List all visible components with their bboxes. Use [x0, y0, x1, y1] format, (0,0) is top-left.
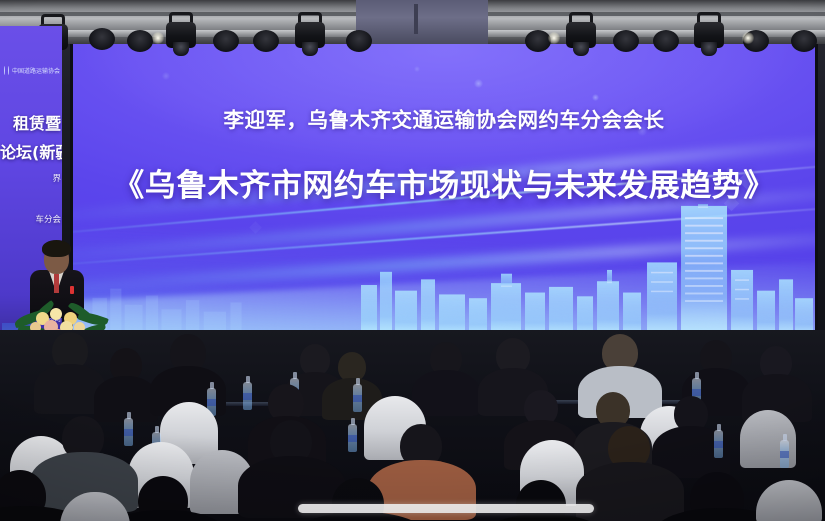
- led-screen: 李迎军，乌鲁木齐交通运输协会网约车分会会长 《乌鲁木齐市网约车市场现状与未来发展…: [73, 41, 815, 355]
- logo-dot-icon: [8, 66, 9, 75]
- truss-ceiling-gap: [356, 0, 488, 44]
- audience-shoulders: [412, 370, 480, 416]
- banner-line-2: 论坛(新疆): [0, 139, 62, 163]
- banner-line-4: 车分会: [0, 213, 62, 225]
- speaker-hair: [42, 240, 71, 257]
- video-progress-bar[interactable]: [298, 504, 594, 513]
- light-glow: [548, 32, 560, 44]
- speaker-lapel-pin: [70, 286, 74, 294]
- water-bottle: [243, 382, 252, 410]
- banner-line-1: 租赁暨: [0, 110, 62, 134]
- banner-logo-text: 中国道路运输协会: [12, 66, 60, 75]
- light-glow: [742, 32, 754, 44]
- light-glow: [152, 32, 164, 44]
- banner-logo: 中国道路运输协会: [4, 62, 60, 78]
- progress-track[interactable]: [298, 504, 594, 513]
- led-screen-frame: 李迎军，乌鲁木齐交通运输协会网约车分会会长 《乌鲁木齐市网约车市场现状与未来发展…: [70, 38, 818, 358]
- audience-area: [0, 330, 825, 521]
- video-frame: 李迎军，乌鲁木齐交通运输协会网约车分会会长 《乌鲁木齐市网约车市场现状与未来发展…: [0, 0, 825, 521]
- speaker-name-and-title: 李迎军，乌鲁木齐交通运输协会网约车分会会长: [224, 103, 665, 133]
- presentation-title: 《乌鲁木齐市网约车市场现状与未来发展趋势》: [113, 160, 775, 205]
- water-bottle: [124, 418, 133, 446]
- screen-text-block: 李迎军，乌鲁木齐交通运输协会网约车分会会长 《乌鲁木齐市网约车市场现状与未来发展…: [73, 41, 815, 355]
- water-bottle: [780, 440, 789, 468]
- water-bottle: [353, 384, 362, 412]
- water-bottle: [348, 424, 357, 452]
- water-bottle: [714, 430, 723, 458]
- banner-line-3: 界: [0, 172, 62, 184]
- speaker-tie: [54, 274, 59, 293]
- logo-dot-icon: [4, 66, 5, 75]
